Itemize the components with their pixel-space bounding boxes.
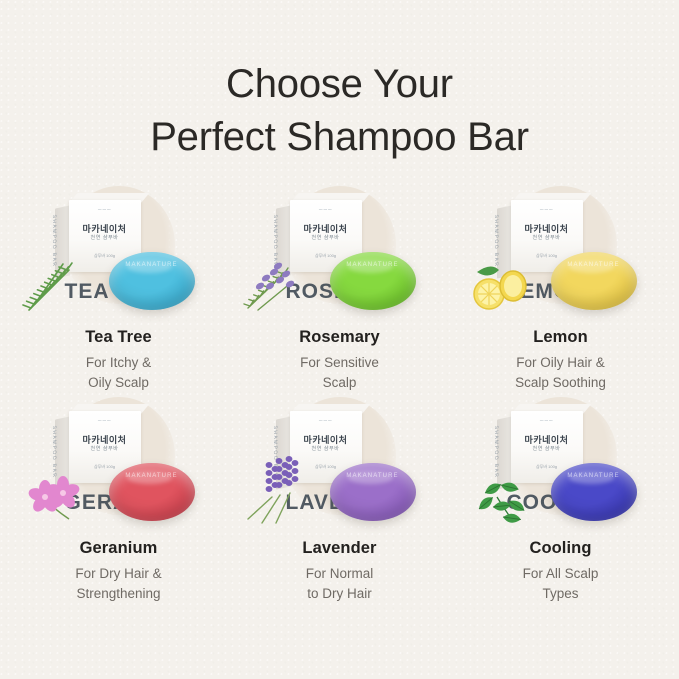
product-grid: SHAMPOO BAR ~~~ 마카네이처 천연 샴푸바 샴푸바 100g TE…	[0, 192, 679, 614]
product-description-line-2: Strengthening	[76, 586, 160, 601]
soap-bar: MAKANATURE	[551, 252, 637, 310]
product-description-line-1: For All Scalp	[523, 566, 599, 581]
product-description-line-2: Scalp Soothing	[515, 375, 606, 390]
soap-bar-emboss: MAKANATURE	[125, 262, 177, 268]
brand-logo-mark: ~~~	[540, 418, 554, 425]
brand-subtitle-korean: 천연 샴푸바	[312, 445, 340, 452]
product-description-line-1: For Normal	[306, 566, 374, 581]
lemon-slice-icon	[467, 252, 539, 314]
product-description: For Sensitive Scalp	[300, 353, 379, 391]
product-name: Tea Tree	[85, 328, 152, 347]
product-image: SHAMPOO BAR ~~~ 마카네이처 천연 샴푸바 샴푸바 100g LA…	[242, 403, 438, 527]
soap-bar-emboss: MAKANATURE	[567, 473, 619, 479]
geranium-flower-icon	[25, 463, 97, 525]
product-name: Geranium	[80, 539, 158, 558]
product-description-line-2: Types	[542, 586, 578, 601]
product-description: For Normal to Dry Hair	[306, 564, 374, 602]
box-footer-text: 샴푸바 100g	[315, 253, 336, 259]
product-description-line-2: Oily Scalp	[88, 375, 149, 390]
product-description: For Oily Hair & Scalp Soothing	[515, 353, 606, 391]
rosemary-sprig-icon	[25, 252, 97, 314]
product-description-line-1: For Oily Hair &	[516, 355, 605, 370]
brand-subtitle-korean: 천연 샴푸바	[312, 234, 340, 241]
box-footer-text: 샴푸바 100g	[315, 464, 336, 470]
product-card-geranium[interactable]: SHAMPOO BAR ~~~ 마카네이처 천연 샴푸바 샴푸바 100g GE…	[8, 403, 229, 614]
product-description: For Itchy & Oily Scalp	[86, 353, 151, 391]
soap-bar-emboss: MAKANATURE	[567, 262, 619, 268]
page-title-line-1: Choose Your	[0, 58, 679, 111]
soap-bar: MAKANATURE	[330, 463, 416, 521]
mint-leaf-icon	[467, 463, 539, 525]
soap-bar-emboss: MAKANATURE	[346, 262, 398, 268]
product-description-line-2: Scalp	[323, 375, 357, 390]
brand-logo-mark: ~~~	[540, 207, 554, 214]
product-image: SHAMPOO BAR ~~~ 마카네이처 천연 샴푸바 샴푸바 100g GE…	[21, 403, 217, 527]
brand-logo-mark: ~~~	[98, 418, 112, 425]
product-card-lavender[interactable]: SHAMPOO BAR ~~~ 마카네이처 천연 샴푸바 샴푸바 100g LA…	[229, 403, 450, 614]
box-footer-text: 샴푸바 100g	[94, 253, 115, 259]
box-footer-text: 샴푸바 100g	[94, 464, 115, 470]
product-description-line-1: For Sensitive	[300, 355, 379, 370]
product-card-tea-tree[interactable]: SHAMPOO BAR ~~~ 마카네이처 천연 샴푸바 샴푸바 100g TE…	[8, 192, 229, 403]
brand-subtitle-korean: 천연 샴푸바	[91, 234, 119, 241]
product-name: Cooling	[529, 539, 591, 558]
brand-logo-mark: ~~~	[98, 207, 112, 214]
brand-logo-mark: ~~~	[319, 207, 333, 214]
soap-bar: MAKANATURE	[109, 252, 195, 310]
product-name: Lavender	[302, 539, 376, 558]
brand-subtitle-korean: 천연 샴푸바	[91, 445, 119, 452]
shampoo-bar-selection-page: Choose Your Perfect Shampoo Bar SHAMPOO …	[0, 0, 679, 679]
soap-bar: MAKANATURE	[551, 463, 637, 521]
product-description: For Dry Hair & Strengthening	[75, 564, 161, 602]
product-card-lemon[interactable]: SHAMPOO BAR ~~~ 마카네이처 천연 샴푸바 샴푸바 100g LE…	[450, 192, 671, 403]
product-card-cooling[interactable]: SHAMPOO BAR ~~~ 마카네이처 천연 샴푸바 샴푸바 100g CO…	[450, 403, 671, 614]
product-card-rosemary[interactable]: SHAMPOO BAR ~~~ 마카네이처 천연 샴푸바 샴푸바 100g RO…	[229, 192, 450, 403]
lavender-sprig-icon	[246, 463, 318, 525]
product-image: SHAMPOO BAR ~~~ 마카네이처 천연 샴푸바 샴푸바 100g TE…	[21, 192, 217, 316]
product-description-line-2: to Dry Hair	[307, 586, 372, 601]
product-name: Rosemary	[299, 328, 380, 347]
box-footer-text: 샴푸바 100g	[536, 464, 557, 470]
product-image: SHAMPOO BAR ~~~ 마카네이처 천연 샴푸바 샴푸바 100g CO…	[463, 403, 659, 527]
box-footer-text: 샴푸바 100g	[536, 253, 557, 259]
brand-subtitle-korean: 천연 샴푸바	[533, 445, 561, 452]
product-image: SHAMPOO BAR ~~~ 마카네이처 천연 샴푸바 샴푸바 100g LE…	[463, 192, 659, 316]
product-description-line-1: For Itchy &	[86, 355, 151, 370]
product-description: For All Scalp Types	[523, 564, 599, 602]
rosemary-flower-icon	[246, 252, 318, 314]
soap-bar-emboss: MAKANATURE	[125, 473, 177, 479]
soap-bar-emboss: MAKANATURE	[346, 473, 398, 479]
product-description-line-1: For Dry Hair &	[75, 566, 161, 581]
brand-subtitle-korean: 천연 샴푸바	[533, 234, 561, 241]
page-title: Choose Your Perfect Shampoo Bar	[0, 0, 679, 164]
product-name: Lemon	[533, 328, 588, 347]
soap-bar: MAKANATURE	[330, 252, 416, 310]
page-title-line-2: Perfect Shampoo Bar	[0, 111, 679, 164]
soap-bar: MAKANATURE	[109, 463, 195, 521]
product-image: SHAMPOO BAR ~~~ 마카네이처 천연 샴푸바 샴푸바 100g RO…	[242, 192, 438, 316]
brand-logo-mark: ~~~	[319, 418, 333, 425]
